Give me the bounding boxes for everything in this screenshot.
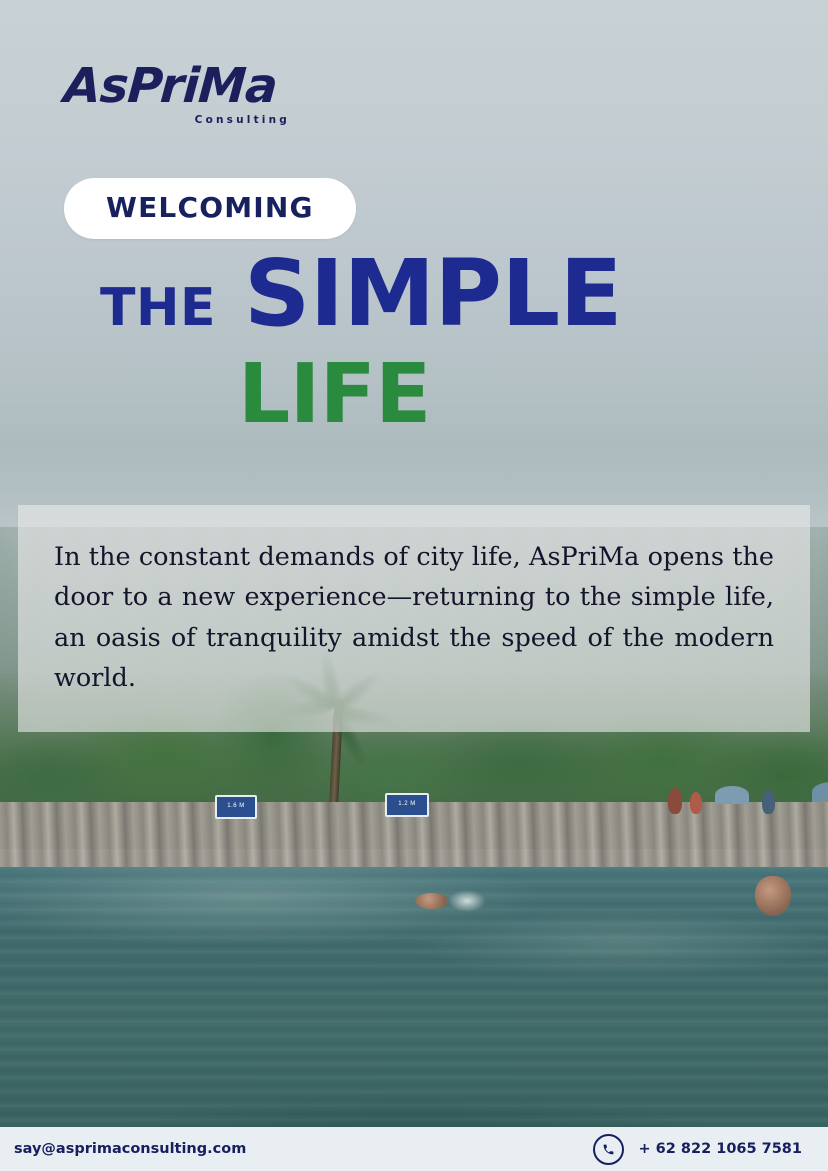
phone-icon (593, 1134, 624, 1165)
body-paragraph: In the constant demands of city life, As… (54, 537, 774, 698)
brand-logo-subtitle: Consulting (64, 114, 294, 126)
poster-canvas: 1.6 M 1.2 M AsPriMa Consulting WELCOMING… (0, 0, 828, 1171)
footer-phone-group: + 62 822 1065 7581 (593, 1134, 814, 1165)
headline-life: LIFE (238, 354, 760, 436)
headline-row-1: THE SIMPLE (100, 248, 760, 340)
footer-bar: say@asprimaconsulting.com + 62 822 1065 … (0, 1127, 828, 1171)
poster-content: AsPriMa Consulting WELCOMING THE SIMPLE … (0, 0, 828, 1171)
footer-phone-number[interactable]: + 62 822 1065 7581 (638, 1141, 802, 1157)
headline-block: THE SIMPLE LIFE (100, 248, 760, 436)
body-text-panel: In the constant demands of city life, As… (18, 505, 810, 732)
brand-logo: AsPriMa Consulting (64, 62, 294, 126)
welcoming-badge: WELCOMING (64, 178, 356, 239)
headline-simple: SIMPLE (244, 248, 622, 340)
welcoming-badge-label: WELCOMING (106, 191, 314, 224)
footer-email[interactable]: say@asprimaconsulting.com (14, 1141, 246, 1157)
brand-logo-wordmark: AsPriMa (62, 62, 295, 110)
headline-the: THE (100, 282, 216, 334)
